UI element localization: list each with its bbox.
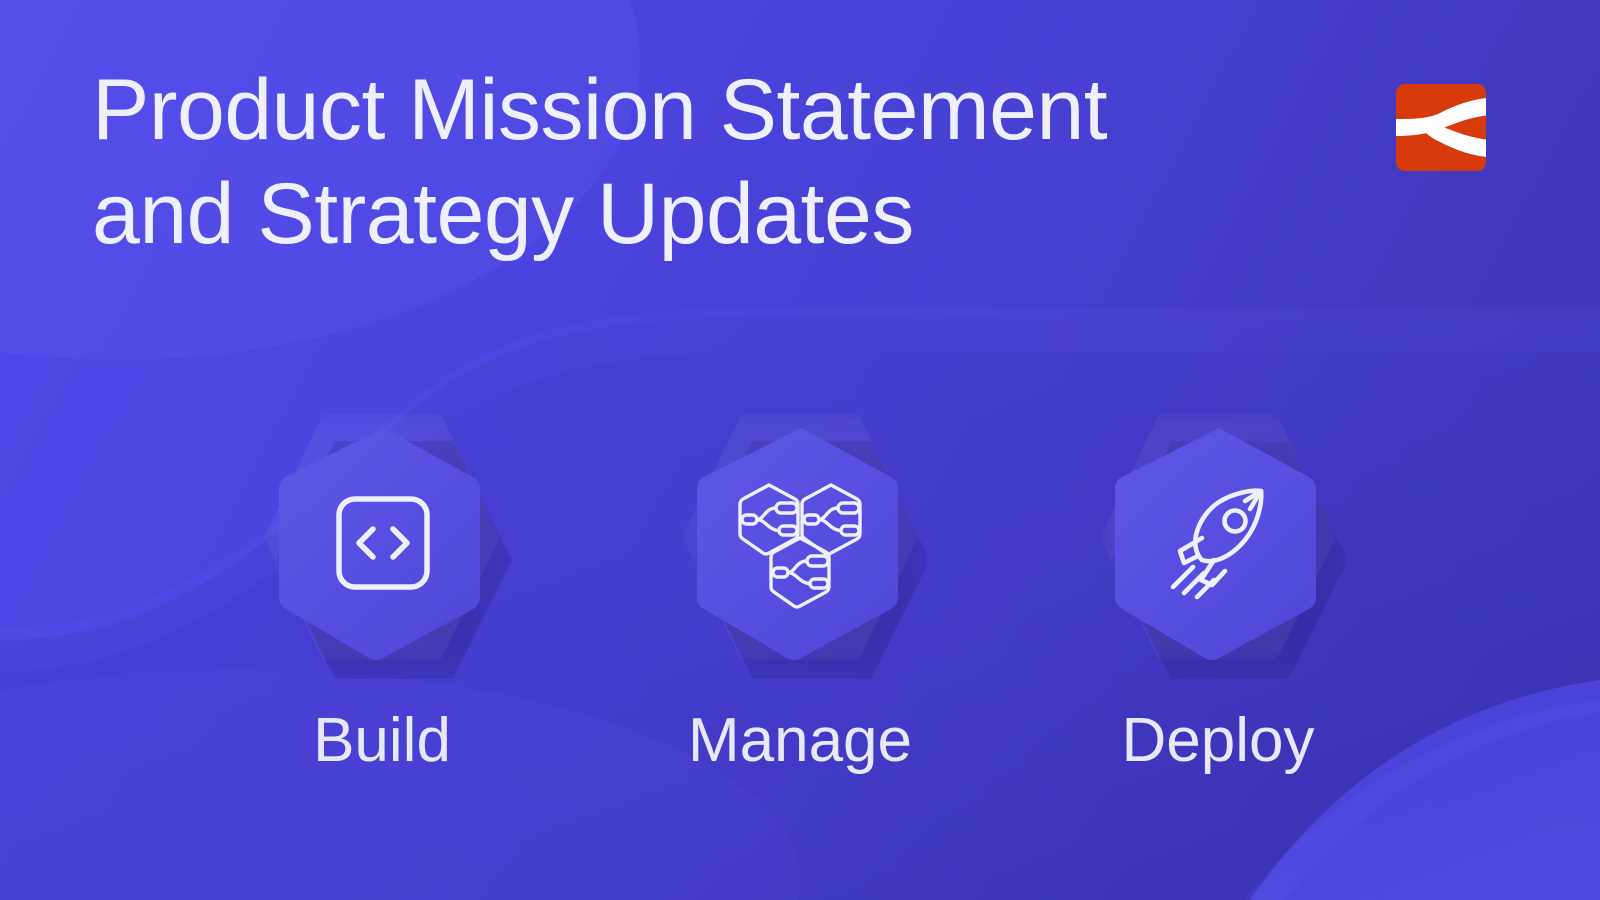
slide-canvas: Product Mission Statement and Strategy U… <box>0 0 1600 900</box>
hexagon-nodes-icon <box>735 477 867 609</box>
hexagon-manage[interactable] <box>680 400 920 670</box>
icon-slot-build <box>270 424 496 662</box>
pillar-deploy[interactable]: Deploy <box>1073 400 1363 776</box>
pillar-build[interactable]: Build <box>237 400 527 776</box>
hexagon-build[interactable] <box>262 400 502 670</box>
brand-logo-icon <box>1396 84 1486 171</box>
hexagon-deploy[interactable] <box>1098 400 1338 670</box>
pillar-label-manage: Manage <box>688 706 912 776</box>
icon-slot-deploy <box>1106 424 1332 662</box>
page-title: Product Mission Statement and Strategy U… <box>92 58 1272 266</box>
pillar-manage[interactable]: Manage <box>655 400 945 776</box>
rocket-icon <box>1157 481 1281 605</box>
pillar-label-deploy: Deploy <box>1122 706 1315 776</box>
title-line-2: and Strategy Updates <box>92 162 1272 266</box>
code-brackets-icon <box>331 491 435 595</box>
icon-slot-manage <box>688 424 914 662</box>
title-line-1: Product Mission Statement <box>92 58 1272 162</box>
pillar-row: Build <box>0 400 1600 776</box>
pillar-label-build: Build <box>313 706 451 776</box>
